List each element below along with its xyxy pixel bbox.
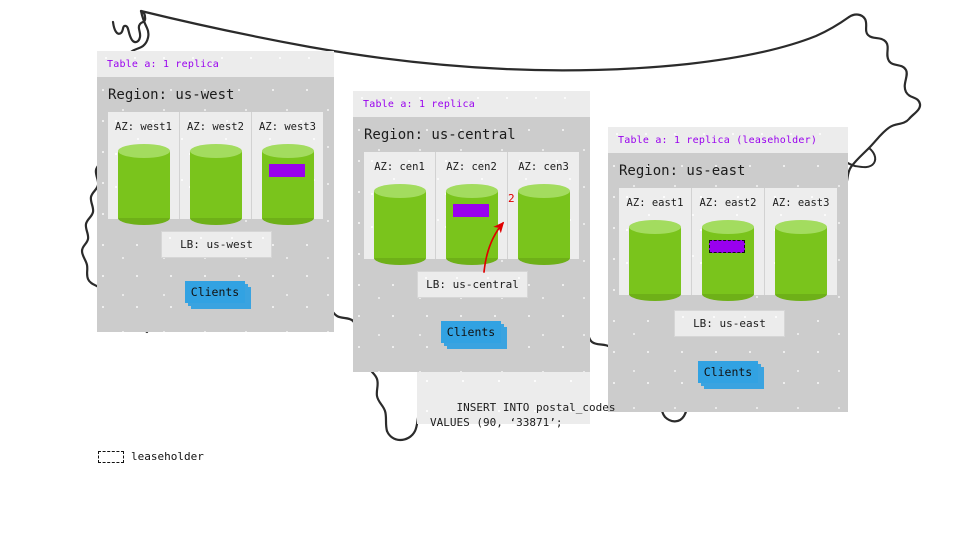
arrow-step-number: 2 [508, 192, 515, 205]
replication-arrow [0, 0, 960, 540]
diagram-canvas: Table a: 1 replica Region: us-west AZ: w… [0, 0, 960, 540]
